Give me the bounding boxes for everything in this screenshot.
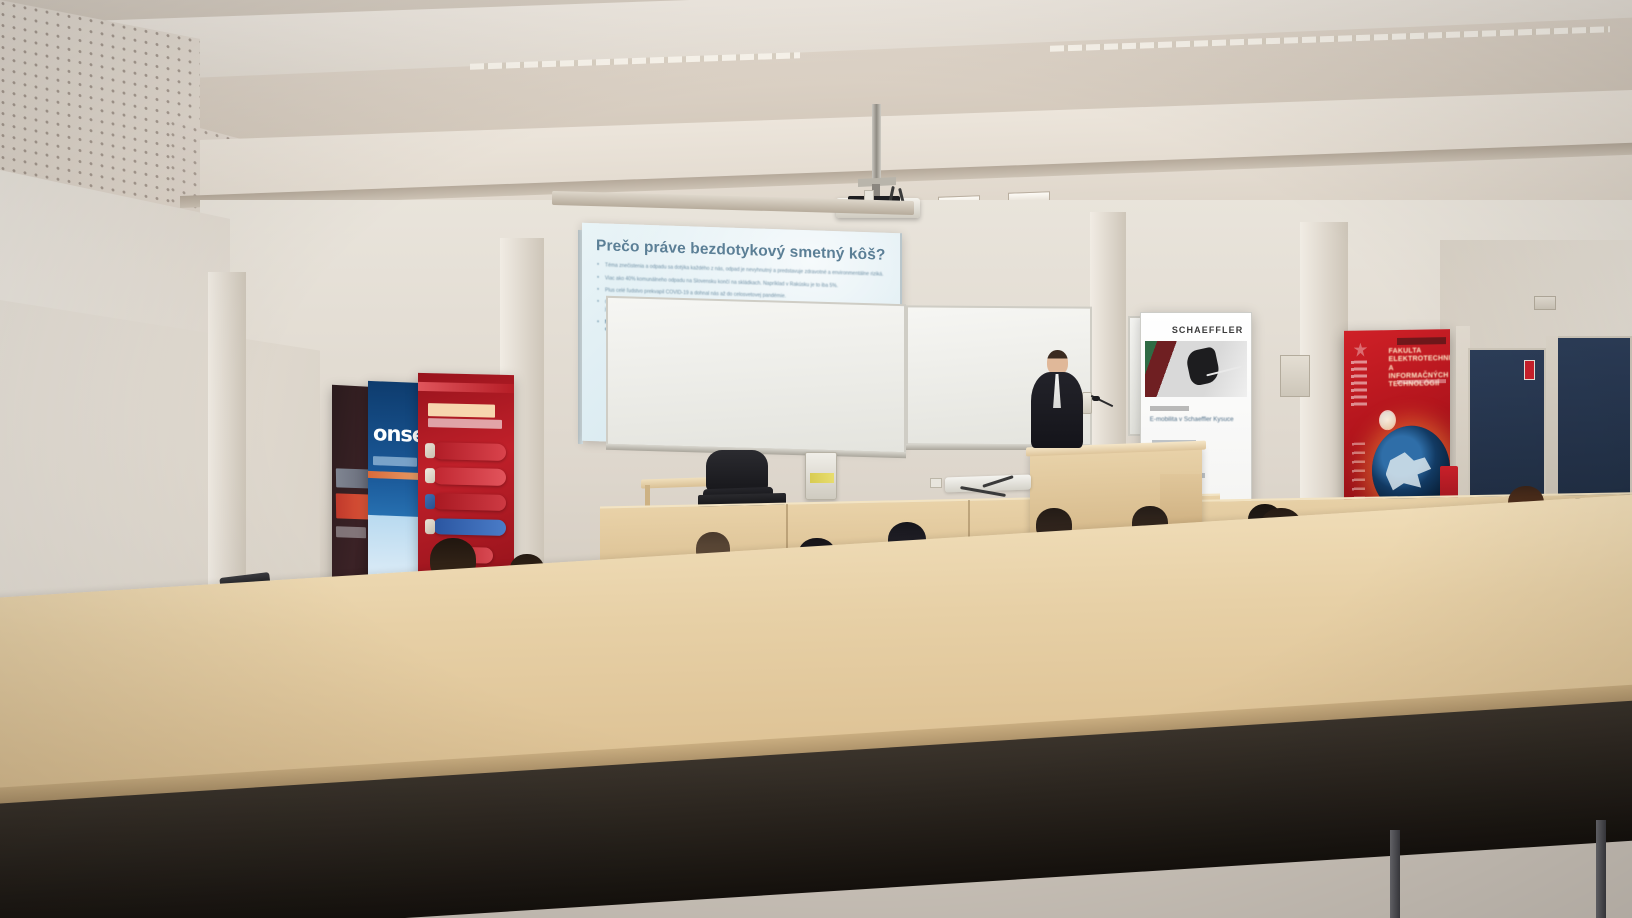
av-adapter <box>930 478 942 488</box>
onsemi-wordmark: onsemi <box>373 421 424 448</box>
red-banner-icon-4 <box>425 519 436 534</box>
right-wall-sensor <box>1534 296 1556 310</box>
fire-alarm-sign <box>1524 360 1535 380</box>
red-banner-pill-2 <box>433 467 506 485</box>
wall-vent <box>1280 355 1310 397</box>
feit-seal-icon <box>1379 410 1396 430</box>
red-banner-pill-1 <box>433 442 506 460</box>
schaeffler-photo <box>1145 341 1246 397</box>
red-banner-icon-2 <box>425 468 436 483</box>
lecture-hall-photo: Prečo práve bezdotykový smetný kôš? Téma… <box>0 0 1632 918</box>
feit-star-icon <box>1354 343 1368 357</box>
desk-support-leg-2 <box>1596 820 1606 918</box>
chair-backrest <box>706 450 768 492</box>
waste-bin-label <box>810 473 834 483</box>
schaeffler-logo: SCHAEFFLER <box>1172 325 1244 335</box>
whiteboard-left <box>606 296 906 454</box>
banner-dark-text-3 <box>336 526 367 538</box>
red-banner-title <box>428 403 495 417</box>
red-banner-icon-1 <box>425 443 436 458</box>
schaeffler-headline: E-mobilita v Schaeffler Kysuce <box>1150 416 1234 423</box>
projector-mount-pole <box>872 104 881 182</box>
waste-bin <box>805 452 837 500</box>
schaeffler-kicker <box>1150 406 1190 411</box>
feit-bar-graphic <box>1351 361 1367 409</box>
red-banner-icon-3 <box>425 494 436 509</box>
presenter <box>1028 350 1086 450</box>
red-banner-subtitle <box>428 418 503 429</box>
red-banner-cap <box>418 382 514 394</box>
feit-icon-column <box>1352 443 1365 503</box>
feit-landmass <box>1386 452 1431 492</box>
onsemi-tagline <box>373 456 417 467</box>
onsemi-accent-band <box>368 471 424 480</box>
microphone-head <box>1092 396 1100 401</box>
desk-support-leg-1 <box>1390 830 1400 918</box>
feit-kicker <box>1397 337 1446 345</box>
red-banner-pill-3 <box>433 493 506 511</box>
schaeffler-charging-plug <box>1185 346 1222 386</box>
feit-subtitle <box>1397 379 1446 384</box>
red-banner-pill-4 <box>433 518 506 536</box>
